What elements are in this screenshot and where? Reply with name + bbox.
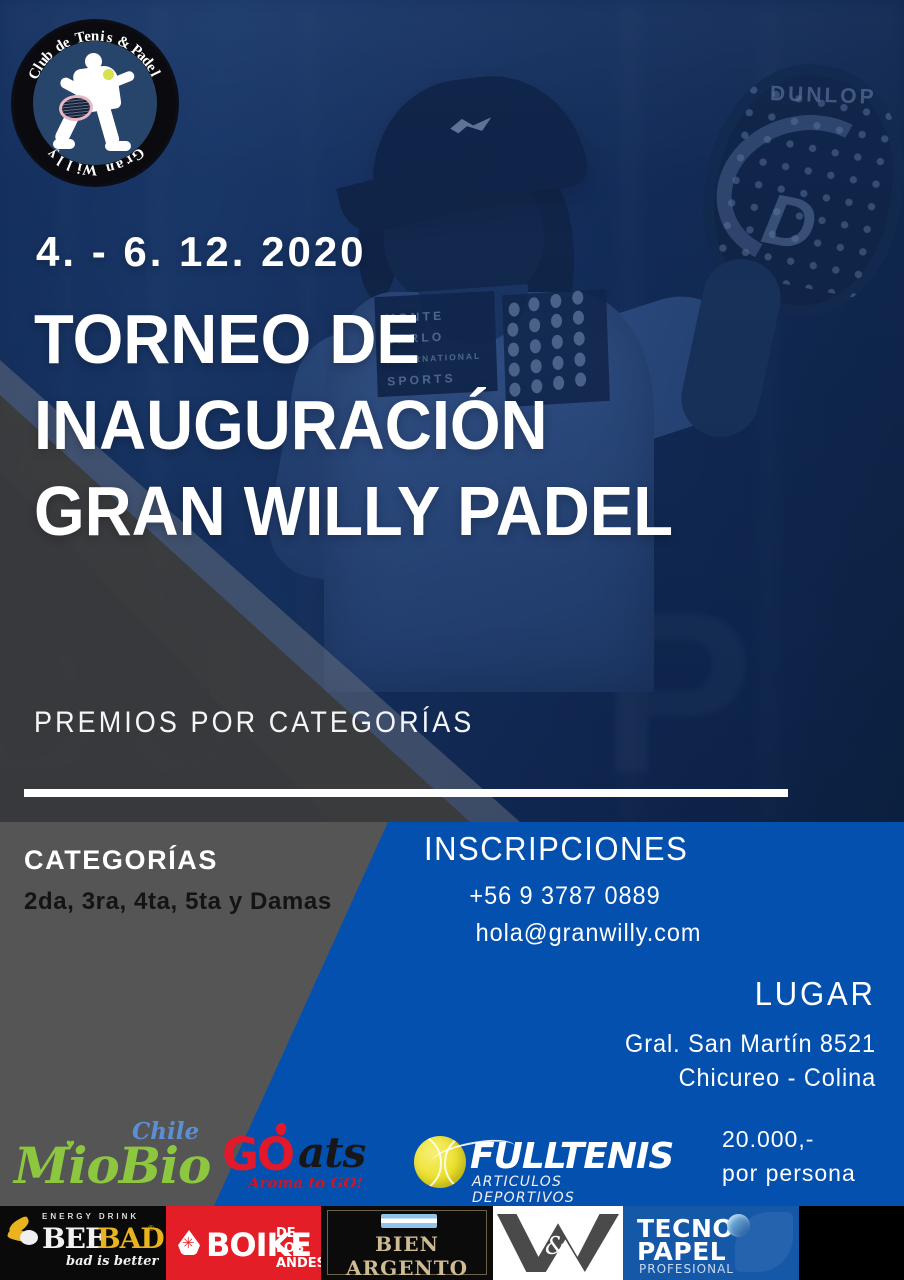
- bee-icon: [6, 1218, 40, 1252]
- sphere-icon: [727, 1214, 750, 1237]
- sponsor-fulltenis-word: FULLTENIS: [470, 1136, 673, 1177]
- sponsor-cell-beebad: ENERGY DRINK BEE BAD ® bad is better: [0, 1206, 166, 1280]
- sponsor-boike-sub: DE LOS ANDES: [276, 1226, 321, 1271]
- categories-title: CATEGORÍAS: [24, 845, 218, 876]
- price-amount: 20.000,-: [722, 1126, 814, 1153]
- registered-trademark-icon: ®: [148, 1224, 154, 1233]
- sponsor-logo-goats: GO ats Aroma to GO!: [222, 1122, 382, 1200]
- water-drop-icon: [178, 1230, 200, 1256]
- headline-line-2: INAUGURACIÓN: [34, 382, 759, 468]
- event-date: 4. - 6. 12. 2020: [36, 228, 367, 276]
- sponsor-cell-bien-argento: BIEN ARGENTO: [321, 1206, 493, 1280]
- sponsor-tecno-sub: PROFESIONAL: [639, 1262, 734, 1276]
- sponsor-bar: ENERGY DRINK BEE BAD ® bad is better BOI…: [0, 1206, 904, 1280]
- sponsor-bar-filler: [799, 1206, 904, 1280]
- sponsor-argento-word: BIEN ARGENTO: [335, 1232, 479, 1280]
- categories-list: 2da, 3ra, 4ta, 5ta y Damas: [24, 888, 332, 916]
- sponsor-logo-miobio: ♥ MioBio Chile: [14, 1122, 200, 1198]
- headline-line-3: GRAN WILLY PADEL: [34, 468, 759, 554]
- badge-arc-text-bottom: Gran Willy: [14, 22, 176, 184]
- sponsor-beebad-word-a: BEE: [42, 1222, 105, 1255]
- sponsor-boike-sub-line1: DE LOS: [276, 1226, 321, 1256]
- registration-email[interactable]: hola@granwilly.com: [424, 919, 753, 948]
- price-per-person: por persona: [722, 1160, 856, 1187]
- sponsor-beebad-eyebrow: ENERGY DRINK: [42, 1212, 139, 1221]
- sponsor-cell-wm: &: [493, 1206, 623, 1280]
- page-title: TORNEO DE INAUGURACIÓN GRAN WILLY PADEL: [34, 296, 759, 554]
- sponsor-logo-fulltenis: FULLTENIS ARTICULOS DEPORTIVOS: [414, 1128, 630, 1196]
- divider-rule: [24, 789, 788, 797]
- sponsor-miobio-tag: Chile: [132, 1118, 199, 1145]
- sponsor-goats-word-b: ats: [298, 1128, 365, 1177]
- sponsor-beebad-tag: bad is better: [66, 1254, 158, 1269]
- prizes-label: PREMIOS POR CATEGORÍAS: [34, 706, 474, 740]
- sponsor-goats-tag: Aroma to GO!: [248, 1174, 363, 1192]
- venue-title: LUGAR: [755, 975, 876, 1013]
- registration-title: INSCRIPCIONES: [424, 830, 678, 868]
- sponsor-cell-boike: BOIKE DE LOS ANDES: [166, 1206, 321, 1280]
- sponsor-boike-sub-line2: ANDES: [276, 1256, 321, 1271]
- venue-address-line2: Chicureo - Colina: [678, 1064, 876, 1093]
- sponsor-wm-word: &: [545, 1232, 566, 1260]
- headline-line-1: TORNEO DE: [34, 296, 759, 382]
- sponsor-fulltenis-tag: ARTICULOS DEPORTIVOS: [472, 1174, 630, 1206]
- event-poster: DU P DUNLOP D MONTE C: [0, 0, 904, 1280]
- venue-address-line1: Gral. San Martín 8521: [625, 1030, 876, 1059]
- sponsor-cell-tecnopapel: TECNO PAPEL PROFESIONAL: [623, 1206, 799, 1280]
- club-logo-badge: Club de Tenis & Padel Gran Willy: [14, 22, 176, 184]
- registration-phone[interactable]: +56 9 3787 0889: [424, 882, 706, 911]
- argentina-flag-icon: [381, 1214, 437, 1228]
